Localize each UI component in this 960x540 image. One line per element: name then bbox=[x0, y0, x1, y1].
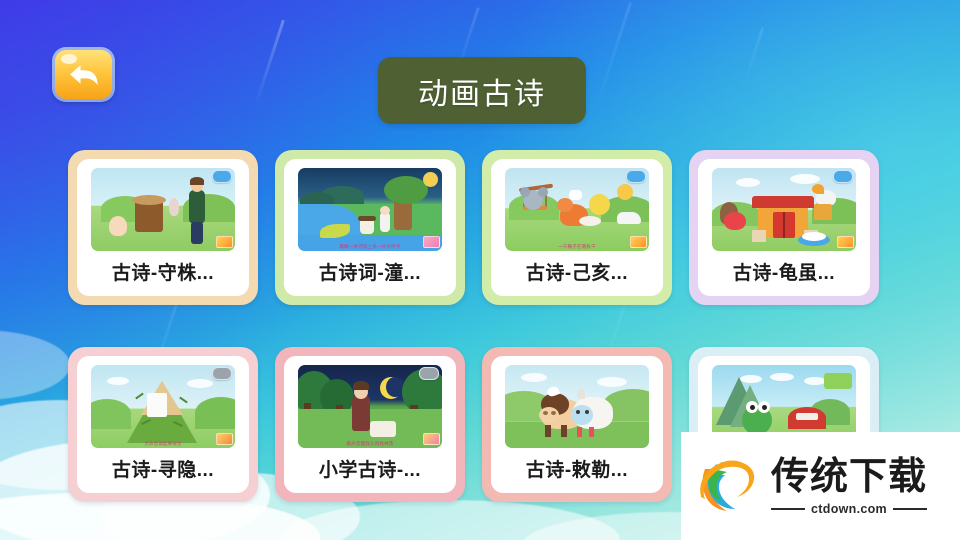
thumbnail-river: 瞧瞧一条河流上有一片大叶子 bbox=[298, 168, 442, 251]
watermark-text: 传统下载 ctdown.com bbox=[771, 457, 927, 516]
watermark-rule-right bbox=[893, 508, 927, 510]
watermark-domain-row: ctdown.com bbox=[771, 502, 927, 516]
thumbnail-fox: 一只狮子在落秋千 bbox=[505, 168, 649, 251]
card-label: 古诗-守株... bbox=[112, 258, 214, 285]
thumbnail-logo-chip bbox=[216, 236, 233, 248]
card-label: 小学古诗-... bbox=[319, 455, 421, 482]
card-label: 古诗-己亥... bbox=[526, 258, 628, 285]
page-title-text: 动画古诗 bbox=[418, 69, 546, 113]
thumbnail-cattle bbox=[505, 365, 649, 448]
thumbnail-caption: 瞧瞧一条河流上有一片大叶子 bbox=[298, 244, 442, 250]
thumbnail-badge bbox=[626, 170, 646, 183]
thumbnail-stump bbox=[91, 168, 235, 251]
card-body: 大声音读起来很文 古诗-寻隐... bbox=[77, 356, 249, 493]
thumbnail-mountain: 大声音读起来很文 bbox=[91, 365, 235, 448]
card-body: 古诗-龟虽... bbox=[698, 159, 870, 296]
thumbnail-badge bbox=[419, 367, 439, 380]
video-card-1[interactable]: 古诗-守株... bbox=[68, 150, 258, 305]
thumbnail-badge bbox=[212, 367, 232, 380]
thumbnail-badge bbox=[833, 170, 853, 183]
thumbnail-badge bbox=[212, 170, 232, 183]
swirl-orbit-logo-icon bbox=[695, 455, 759, 517]
thumbnail-caption: 大声音读起来很文 bbox=[91, 441, 235, 447]
video-card-4[interactable]: 古诗-龟虽... bbox=[689, 150, 879, 305]
card-body: 古诗-敕勒... bbox=[491, 356, 663, 493]
cloud-shape bbox=[0, 330, 70, 400]
watermark-overlay: 传统下载 ctdown.com bbox=[681, 432, 960, 540]
thumbnail-logo-chip bbox=[837, 236, 854, 248]
cloud-shape bbox=[280, 500, 620, 540]
video-card-5[interactable]: 大声音读起来很文 古诗-寻隐... bbox=[68, 347, 258, 502]
video-card-7[interactable]: 古诗-敕勒... bbox=[482, 347, 672, 502]
back-arrow-icon bbox=[67, 62, 101, 88]
card-body: 古诗-守株... bbox=[77, 159, 249, 296]
card-body: 瞧瞧一条河流上有一片大叶子 古诗词-潼... bbox=[284, 159, 456, 296]
card-body: 跟声音慢戏头的找林苑 小学古诗-... bbox=[284, 356, 456, 493]
back-button-face bbox=[55, 50, 112, 99]
page-title: 动画古诗 bbox=[378, 57, 586, 124]
video-card-3[interactable]: 一只狮子在落秋千 古诗-己亥... bbox=[482, 150, 672, 305]
card-label: 古诗-敕勒... bbox=[526, 455, 628, 482]
card-label: 古诗词-潼... bbox=[319, 258, 421, 285]
card-label: 古诗-龟虽... bbox=[733, 258, 835, 285]
watermark-rule-left bbox=[771, 508, 805, 510]
thumbnail-caption: 跟声音慢戏头的找林苑 bbox=[298, 441, 442, 447]
thumbnail-caption: 一只狮子在落秋千 bbox=[505, 244, 649, 250]
back-button[interactable] bbox=[52, 47, 115, 102]
watermark-brand: 传统下载 bbox=[771, 457, 927, 495]
card-body: 一只狮子在落秋千 古诗-己亥... bbox=[491, 159, 663, 296]
card-label: 古诗-寻隐... bbox=[112, 455, 214, 482]
light-ray bbox=[743, 27, 764, 85]
watermark-domain: ctdown.com bbox=[811, 502, 887, 516]
thumbnail-night: 跟声音慢戏头的找林苑 bbox=[298, 365, 442, 448]
light-ray bbox=[254, 20, 285, 107]
light-ray bbox=[595, 2, 632, 108]
video-card-2[interactable]: 瞧瞧一条河流上有一片大叶子 古诗词-潼... bbox=[275, 150, 465, 305]
thumbnail-house bbox=[712, 168, 856, 251]
video-card-6[interactable]: 跟声音慢戏头的找林苑 小学古诗-... bbox=[275, 347, 465, 502]
